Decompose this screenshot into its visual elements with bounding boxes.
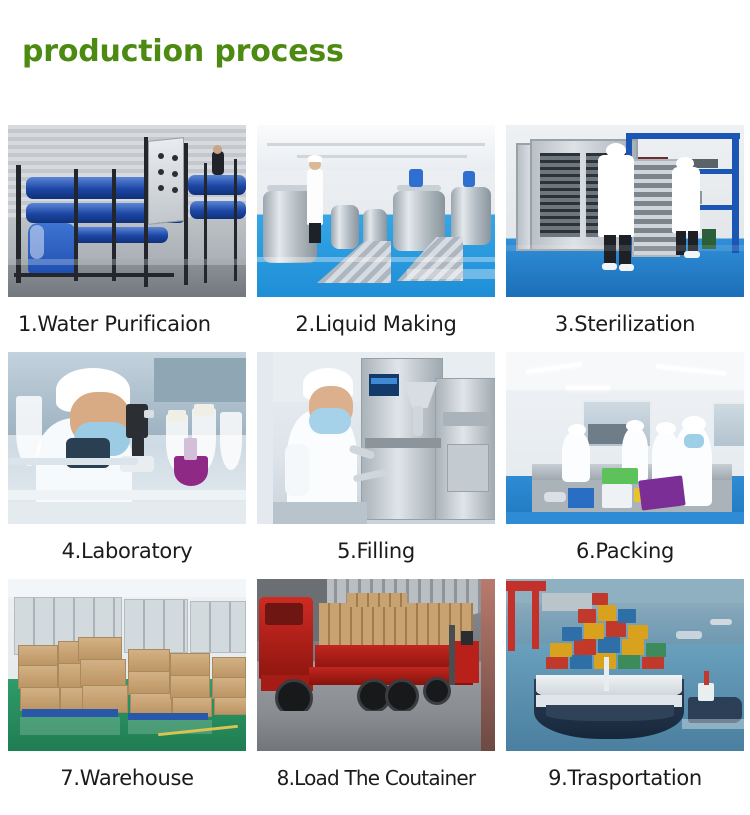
process-step-6[interactable]: 6.Packing — [506, 352, 744, 579]
step-2-image — [257, 125, 495, 297]
step-7-image — [8, 579, 246, 751]
step-1-caption: 1.Water Purificaion — [8, 297, 246, 352]
process-step-3[interactable]: 3.Sterilization — [506, 125, 744, 352]
step-4-caption: 4.Laboratory — [8, 524, 246, 579]
process-row-1: 1.Water Purificaion — [8, 125, 744, 352]
step-1-image — [8, 125, 246, 297]
process-step-8[interactable]: 8.Load The Coutainer — [257, 579, 495, 806]
step-9-caption: 9.Trasportation — [506, 751, 744, 806]
step-3-caption: 3.Sterilization — [506, 297, 744, 352]
process-row-3: 7.Warehouse — [8, 579, 744, 806]
step-2-caption: 2.Liquid Making — [257, 297, 495, 352]
page-title: production process — [22, 34, 344, 69]
process-step-2[interactable]: 2.Liquid Making — [257, 125, 495, 352]
process-step-7[interactable]: 7.Warehouse — [8, 579, 246, 806]
process-step-9[interactable]: 9.Trasportation — [506, 579, 744, 806]
step-7-caption: 7.Warehouse — [8, 751, 246, 806]
step-4-image — [8, 352, 246, 524]
process-step-4[interactable]: 4.Laboratory — [8, 352, 246, 579]
step-6-caption: 6.Packing — [506, 524, 744, 579]
process-step-5[interactable]: 5.Filling — [257, 352, 495, 579]
step-9-image — [506, 579, 744, 751]
step-3-image — [506, 125, 744, 297]
process-step-1[interactable]: 1.Water Purificaion — [8, 125, 246, 352]
step-8-caption: 8.Load The Coutainer — [257, 751, 495, 806]
step-6-image — [506, 352, 744, 524]
process-step-grid: 1.Water Purificaion — [8, 125, 744, 806]
step-8-image — [257, 579, 495, 751]
step-5-image — [257, 352, 495, 524]
production-process-banner: production process — [0, 0, 750, 815]
step-5-caption: 5.Filling — [257, 524, 495, 579]
process-row-2: 4.Laboratory — [8, 352, 744, 579]
